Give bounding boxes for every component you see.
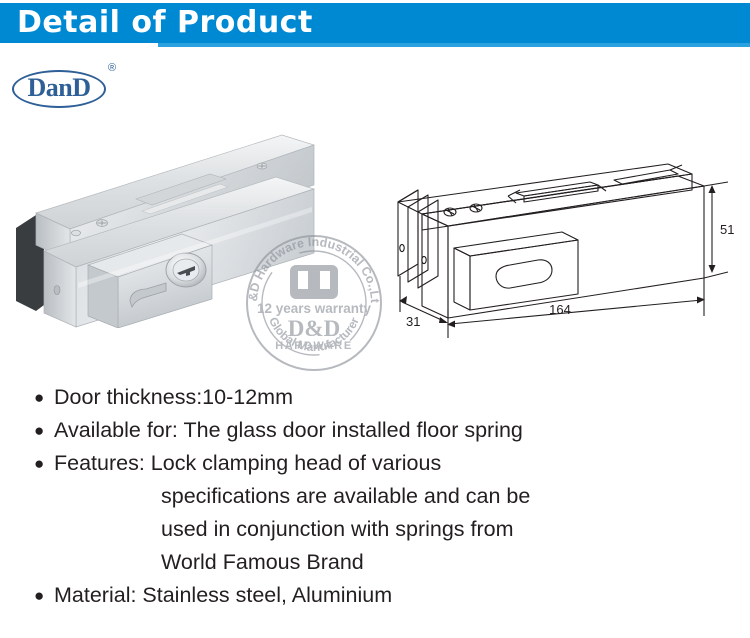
bullet-icon: ● bbox=[34, 579, 54, 612]
header-underline-gap bbox=[0, 43, 158, 47]
bullet-icon: ● bbox=[34, 381, 54, 414]
dimension-depth-label: 31 bbox=[406, 314, 420, 329]
bullet-icon: ● bbox=[34, 447, 54, 480]
spec-text: specifications are available and can be bbox=[54, 480, 724, 513]
brand-logo: DanD ® bbox=[12, 62, 122, 108]
seal-warranty-text: 12 years warranty bbox=[257, 301, 372, 316]
spec-item-features-line2: specifications are available and can be bbox=[34, 480, 724, 513]
watermark-seal-illustration: D&D Hardware Industrial Co.,Ltd Global M… bbox=[244, 233, 384, 373]
technical-drawing-illustration: 51 164 31 bbox=[392, 160, 740, 340]
spec-item-features-line3: used in conjunction with springs from bbox=[34, 513, 724, 546]
spec-text: World Famous Brand bbox=[54, 546, 724, 579]
spec-text: Material: Stainless steel, Aluminium bbox=[54, 579, 724, 612]
logo-text: DanD bbox=[12, 70, 106, 108]
spec-text: used in conjunction with springs from bbox=[54, 513, 724, 546]
spec-item-material: ● Material: Stainless steel, Aluminium bbox=[34, 579, 724, 612]
spec-item-available-for: ● Available for: The glass door installe… bbox=[34, 414, 724, 447]
spec-item-features-line4: World Famous Brand bbox=[34, 546, 724, 579]
seal-brand-text: D&D bbox=[288, 316, 340, 341]
seal-brand-sub-text: HARDWARE bbox=[275, 340, 353, 352]
spec-item-features: ● Features: Lock clamping head of variou… bbox=[34, 447, 724, 480]
spec-text: Features: Lock clamping head of various bbox=[54, 447, 724, 480]
spec-text: Available for: The glass door installed … bbox=[54, 414, 724, 447]
dimension-height-label: 51 bbox=[720, 222, 734, 237]
page-title: Detail of Product bbox=[17, 5, 313, 40]
page-header-banner: Detail of Product bbox=[0, 3, 750, 43]
bullet-icon: ● bbox=[34, 414, 54, 447]
technical-drawing: 51 164 31 bbox=[392, 160, 740, 340]
spec-text: Door thickness:10-12mm bbox=[54, 381, 724, 414]
watermark-seal: D&D Hardware Industrial Co.,Ltd Global M… bbox=[244, 233, 384, 373]
seal-emblem-icon bbox=[290, 265, 338, 299]
spec-item-door-thickness: ● Door thickness:10-12mm bbox=[34, 381, 724, 414]
registered-trademark-icon: ® bbox=[108, 62, 116, 74]
dimension-width-label: 164 bbox=[549, 302, 571, 317]
product-spec-list: ● Door thickness:10-12mm ● Available for… bbox=[34, 381, 724, 612]
